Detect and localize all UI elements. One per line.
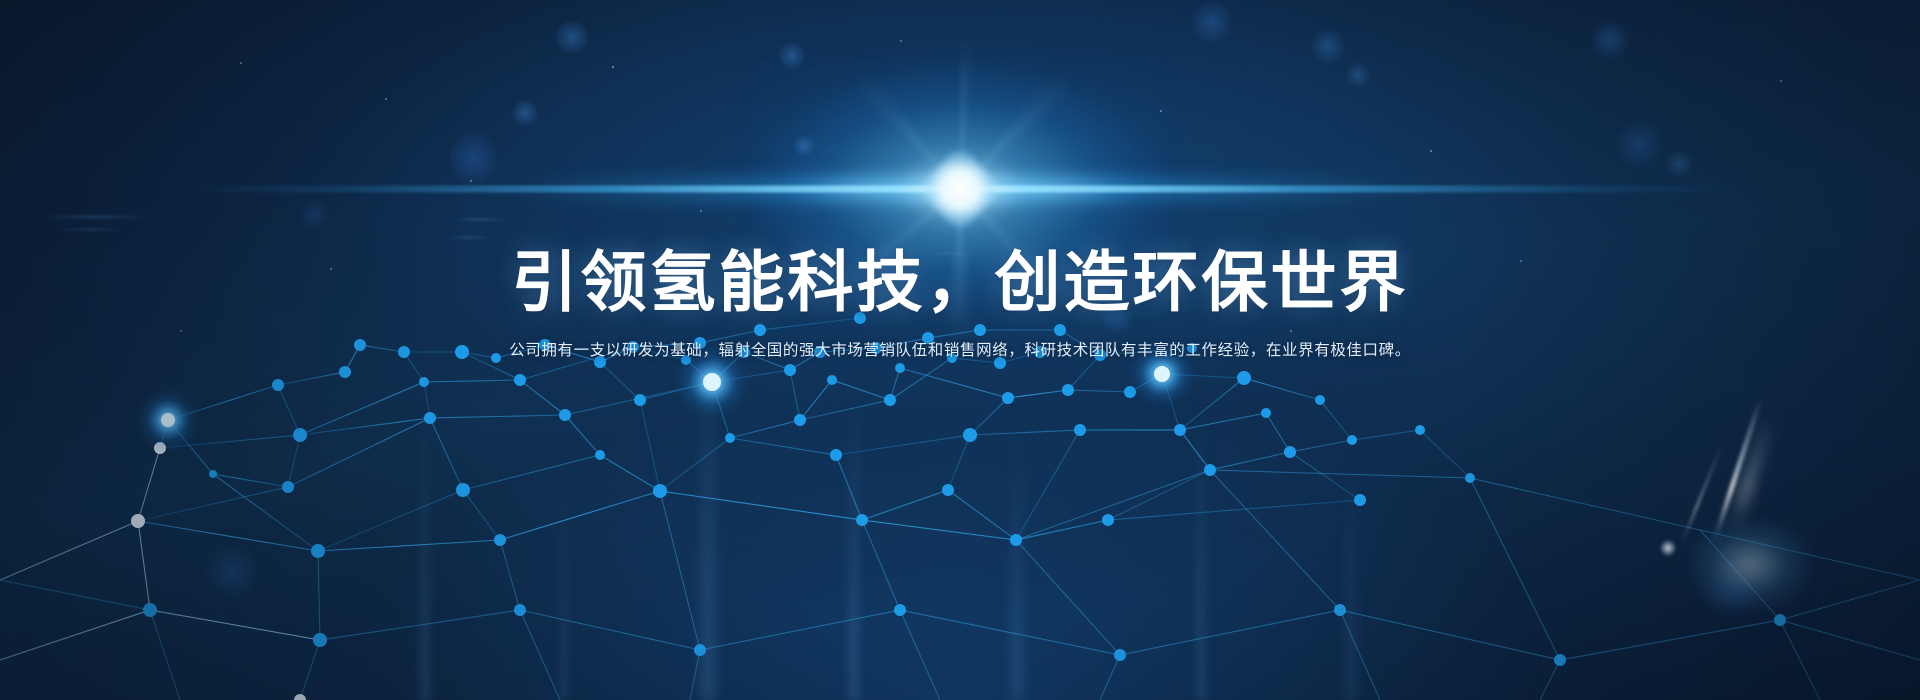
star bbox=[1520, 260, 1522, 262]
star bbox=[240, 62, 242, 64]
beam-spark bbox=[1660, 540, 1676, 556]
flare-streak-soft bbox=[520, 176, 1400, 202]
bokeh-blob bbox=[450, 130, 496, 186]
data-streak bbox=[445, 236, 491, 239]
data-streak bbox=[450, 218, 510, 221]
bokeh-blob bbox=[793, 135, 815, 157]
bokeh-blob bbox=[1190, 0, 1234, 44]
bokeh-blob bbox=[1665, 150, 1693, 178]
star bbox=[612, 66, 614, 68]
bokeh-blob bbox=[512, 100, 538, 126]
star bbox=[1160, 110, 1162, 112]
hero-banner: 引领氢能科技，创造环保世界 公司拥有一支以研发为基础，辐射全国的强大市场营销队伍… bbox=[0, 0, 1920, 700]
bokeh-blob bbox=[300, 200, 330, 230]
data-streak bbox=[55, 228, 125, 231]
star bbox=[330, 268, 332, 270]
bokeh-blob bbox=[1310, 28, 1346, 64]
flare-core bbox=[916, 145, 1004, 233]
star bbox=[1050, 250, 1052, 252]
bokeh-blob bbox=[1615, 120, 1663, 168]
flare-streak bbox=[180, 186, 1740, 193]
star bbox=[385, 98, 387, 100]
bokeh-blob bbox=[555, 20, 589, 54]
star bbox=[1430, 150, 1432, 152]
bokeh-blob bbox=[778, 42, 806, 70]
data-streak bbox=[40, 215, 150, 219]
star bbox=[1780, 80, 1782, 82]
data-streak bbox=[920, 252, 980, 255]
network-mesh bbox=[0, 280, 1920, 700]
star bbox=[900, 40, 902, 42]
star bbox=[470, 180, 472, 182]
star bbox=[700, 210, 702, 212]
bokeh-blob bbox=[1345, 62, 1371, 88]
beam-glow bbox=[1690, 520, 1810, 610]
bokeh-blob bbox=[1590, 20, 1630, 60]
